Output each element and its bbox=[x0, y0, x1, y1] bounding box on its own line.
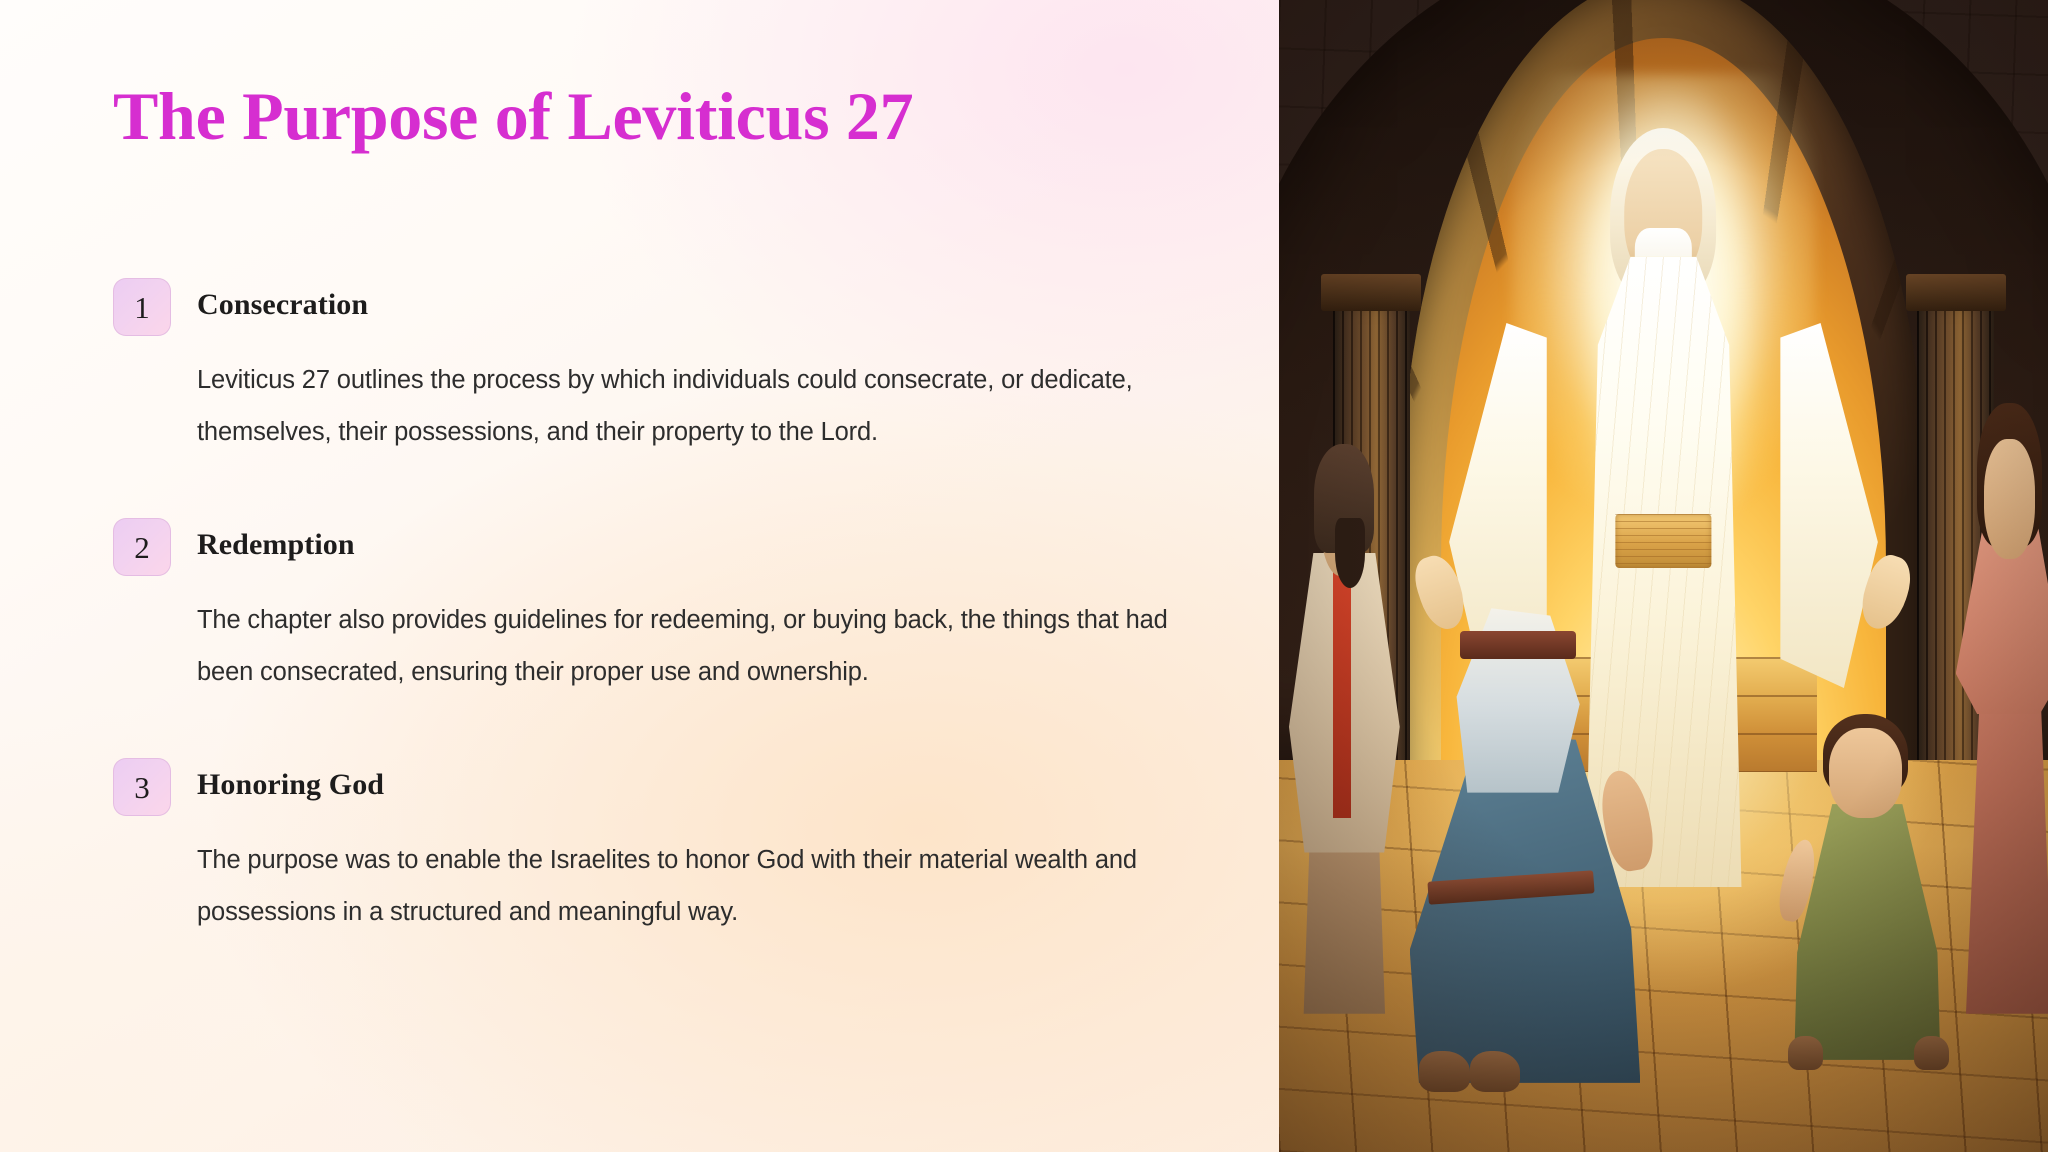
figure-sash bbox=[1616, 514, 1712, 568]
list-item: 3 Honoring God The purpose was to enable… bbox=[113, 756, 1183, 938]
content-panel: The Purpose of Leviticus 27 1 Consecrati… bbox=[0, 0, 1279, 1152]
standing-man-left bbox=[1287, 438, 1402, 1014]
kneeling-man-foot-left bbox=[1419, 1051, 1470, 1092]
man-left-red-stole bbox=[1333, 553, 1351, 818]
temple-scene-illustration bbox=[1279, 0, 2048, 1152]
section-header: 1 Consecration bbox=[113, 276, 1183, 336]
kneeling-man-headband bbox=[1460, 631, 1575, 659]
standing-woman-right bbox=[1956, 415, 2048, 1014]
section-heading: Redemption bbox=[197, 516, 355, 560]
column-capital-left bbox=[1321, 274, 1421, 311]
illustration-panel bbox=[1279, 0, 2048, 1152]
section-body: The chapter also provides guidelines for… bbox=[197, 594, 1182, 698]
step-number-badge: 2 bbox=[113, 518, 171, 576]
kneeling-child-green bbox=[1794, 714, 1940, 1060]
section-list: 1 Consecration Leviticus 27 outlines the… bbox=[113, 276, 1183, 938]
list-item: 2 Redemption The chapter also provides g… bbox=[113, 516, 1183, 698]
child-foot-right bbox=[1914, 1036, 1949, 1071]
child-head bbox=[1829, 728, 1902, 818]
child-robe bbox=[1794, 804, 1940, 1060]
section-body: Leviticus 27 outlines the process by whi… bbox=[197, 354, 1182, 458]
slide-root: The Purpose of Leviticus 27 1 Consecrati… bbox=[0, 0, 2048, 1152]
section-header: 2 Redemption bbox=[113, 516, 1183, 576]
section-header: 3 Honoring God bbox=[113, 756, 1183, 816]
woman-head bbox=[1984, 439, 2036, 559]
child-foot-left bbox=[1788, 1036, 1823, 1071]
column-capital-right bbox=[1906, 274, 2006, 311]
section-heading: Consecration bbox=[197, 276, 368, 320]
step-number-badge: 3 bbox=[113, 758, 171, 816]
kneeling-man-foot-right bbox=[1470, 1051, 1521, 1092]
section-heading: Honoring God bbox=[197, 756, 384, 800]
step-number-badge: 1 bbox=[113, 278, 171, 336]
page-title: The Purpose of Leviticus 27 bbox=[113, 80, 913, 153]
kneeling-man-blue bbox=[1410, 622, 1641, 1083]
list-item: 1 Consecration Leviticus 27 outlines the… bbox=[113, 276, 1183, 458]
man-left-beard bbox=[1335, 518, 1365, 587]
section-body: The purpose was to enable the Israelites… bbox=[197, 834, 1182, 938]
